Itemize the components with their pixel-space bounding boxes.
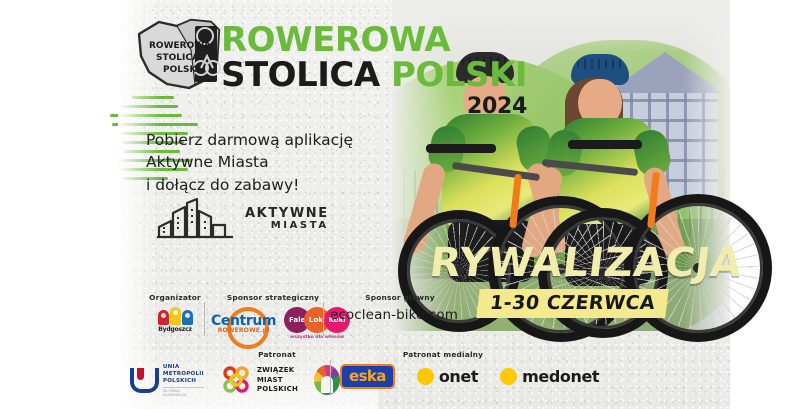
promo-poster: RYWALIZACJA 1-30 CZERWCA ROWEROWA STOLIC…: [0, 0, 800, 409]
poland-map-svg: ROWEROWA STOLICA POLSKI: [133, 16, 233, 98]
figure-red: [158, 310, 169, 325]
title-year: 2024: [221, 94, 527, 119]
poland-map-logo-icon: ROWEROWA STOLICA POLSKI: [133, 16, 233, 98]
medonet-dot-icon: [500, 368, 517, 385]
organizer-block: Organizator Bydgoszcz: [132, 293, 218, 333]
centrum-rowerowe-logo[interactable]: Centrum ROWEROWE.pl: [211, 313, 276, 334]
svg-text:POLSKI: POLSKI: [163, 65, 200, 75]
handlebar-right: [568, 140, 642, 149]
onet-dot-icon: [417, 368, 434, 385]
svg-text:STOLICA: STOLICA: [156, 53, 199, 63]
handlebar-left: [426, 144, 496, 153]
caption-strategic-sponsor: Sponsor strategiczny: [211, 293, 335, 302]
zmp-flower-icon: [220, 364, 252, 396]
eska-logo[interactable]: eska: [340, 364, 395, 389]
frame-bar-left: [452, 162, 540, 181]
competition-headline: RYWALIZACJA: [428, 243, 745, 283]
strategic-sponsor-block: Sponsor strategiczny Centrum ROWEROWE.pl…: [211, 293, 335, 340]
divider-3: [330, 360, 331, 394]
divider-2: [323, 302, 324, 336]
zmp-line-1: ZWIĄZEK: [257, 366, 298, 375]
onet-logo[interactable]: onet: [417, 367, 478, 386]
title-word-polski: POLSKI: [391, 55, 527, 95]
bydgoszcz-wordmark: Bydgoszcz: [158, 326, 192, 333]
media-patronage-block: Patronat medialny eska onet medonet: [340, 350, 590, 389]
aktywne-miasta-wordmark: AKTYWNE MIASTA: [245, 207, 329, 231]
medonet-wordmark: medonet: [522, 367, 599, 386]
tagline: Pobierz darmową aplikację Aktywne Miasta…: [146, 129, 353, 196]
zmp-wordmark: ZWIĄZEK MIAST POLSKICH: [257, 366, 298, 394]
competition-dates: 1-30 CZERWCA: [476, 289, 669, 318]
figure-blue: [182, 310, 193, 325]
bydgoszcz-logo[interactable]: Bydgoszcz: [132, 307, 218, 333]
title-word-stolica: STOLICA: [221, 55, 380, 95]
unia-metropolii-polskich-logo[interactable]: UNIA METROPOLII POLSKICH IM. PAWŁA ADAMO…: [130, 364, 204, 397]
aktywne-miasta-logo: AKTYWNE MIASTA: [157, 197, 329, 241]
ump-footnote: IM. PAWŁA ADAMOWICZA: [163, 387, 204, 397]
fan-circle-logo[interactable]: [314, 365, 340, 395]
tagline-line-1: Pobierz darmową aplikację: [146, 129, 353, 151]
poster-title: ROWEROWA STOLICA POLSKI 2024: [221, 24, 527, 119]
centrum-word-2: ROWEROWE.pl: [211, 327, 276, 334]
caption-organizer: Organizator: [132, 293, 218, 302]
ump-line-2: METROPOLII: [163, 371, 204, 378]
ump-u-icon: [130, 368, 159, 393]
city-skyline-icon: [157, 197, 235, 241]
onet-wordmark: onet: [439, 367, 478, 386]
zmp-line-3: POLSKICH: [257, 385, 298, 394]
am-line-1: AKTYWNE: [245, 207, 329, 221]
figure-yellow: [170, 307, 181, 325]
am-line-2: MIASTA: [245, 221, 329, 232]
frame-bar-right: [542, 159, 638, 176]
divider-1: [204, 302, 205, 336]
zwiazek-miast-polskich-logo[interactable]: ZWIĄZEK MIAST POLSKICH: [220, 364, 298, 396]
tagline-line-3: i dołącz do zabawy!: [146, 174, 353, 196]
svg-text:ROWEROWA: ROWEROWA: [149, 41, 211, 51]
zmp-line-2: MIAST: [257, 376, 298, 385]
caption-media-patronage: Patronat medialny: [296, 350, 590, 359]
tagline-line-2: Aktywne Miasta: [146, 151, 353, 173]
flk-subtitle: wszystko dla włosów: [290, 335, 344, 340]
competition-badge: RYWALIZACJA 1-30 CZERWCA: [430, 243, 742, 318]
medonet-logo[interactable]: medonet: [500, 367, 599, 386]
bydgoszcz-figures-icon: [158, 307, 193, 325]
ump-line-3: POLSKICH: [163, 378, 204, 385]
ump-line-1: UNIA: [163, 364, 204, 371]
title-word-rowerowa: ROWEROWA: [221, 24, 527, 56]
title-line-two: STOLICA POLSKI: [221, 58, 527, 93]
